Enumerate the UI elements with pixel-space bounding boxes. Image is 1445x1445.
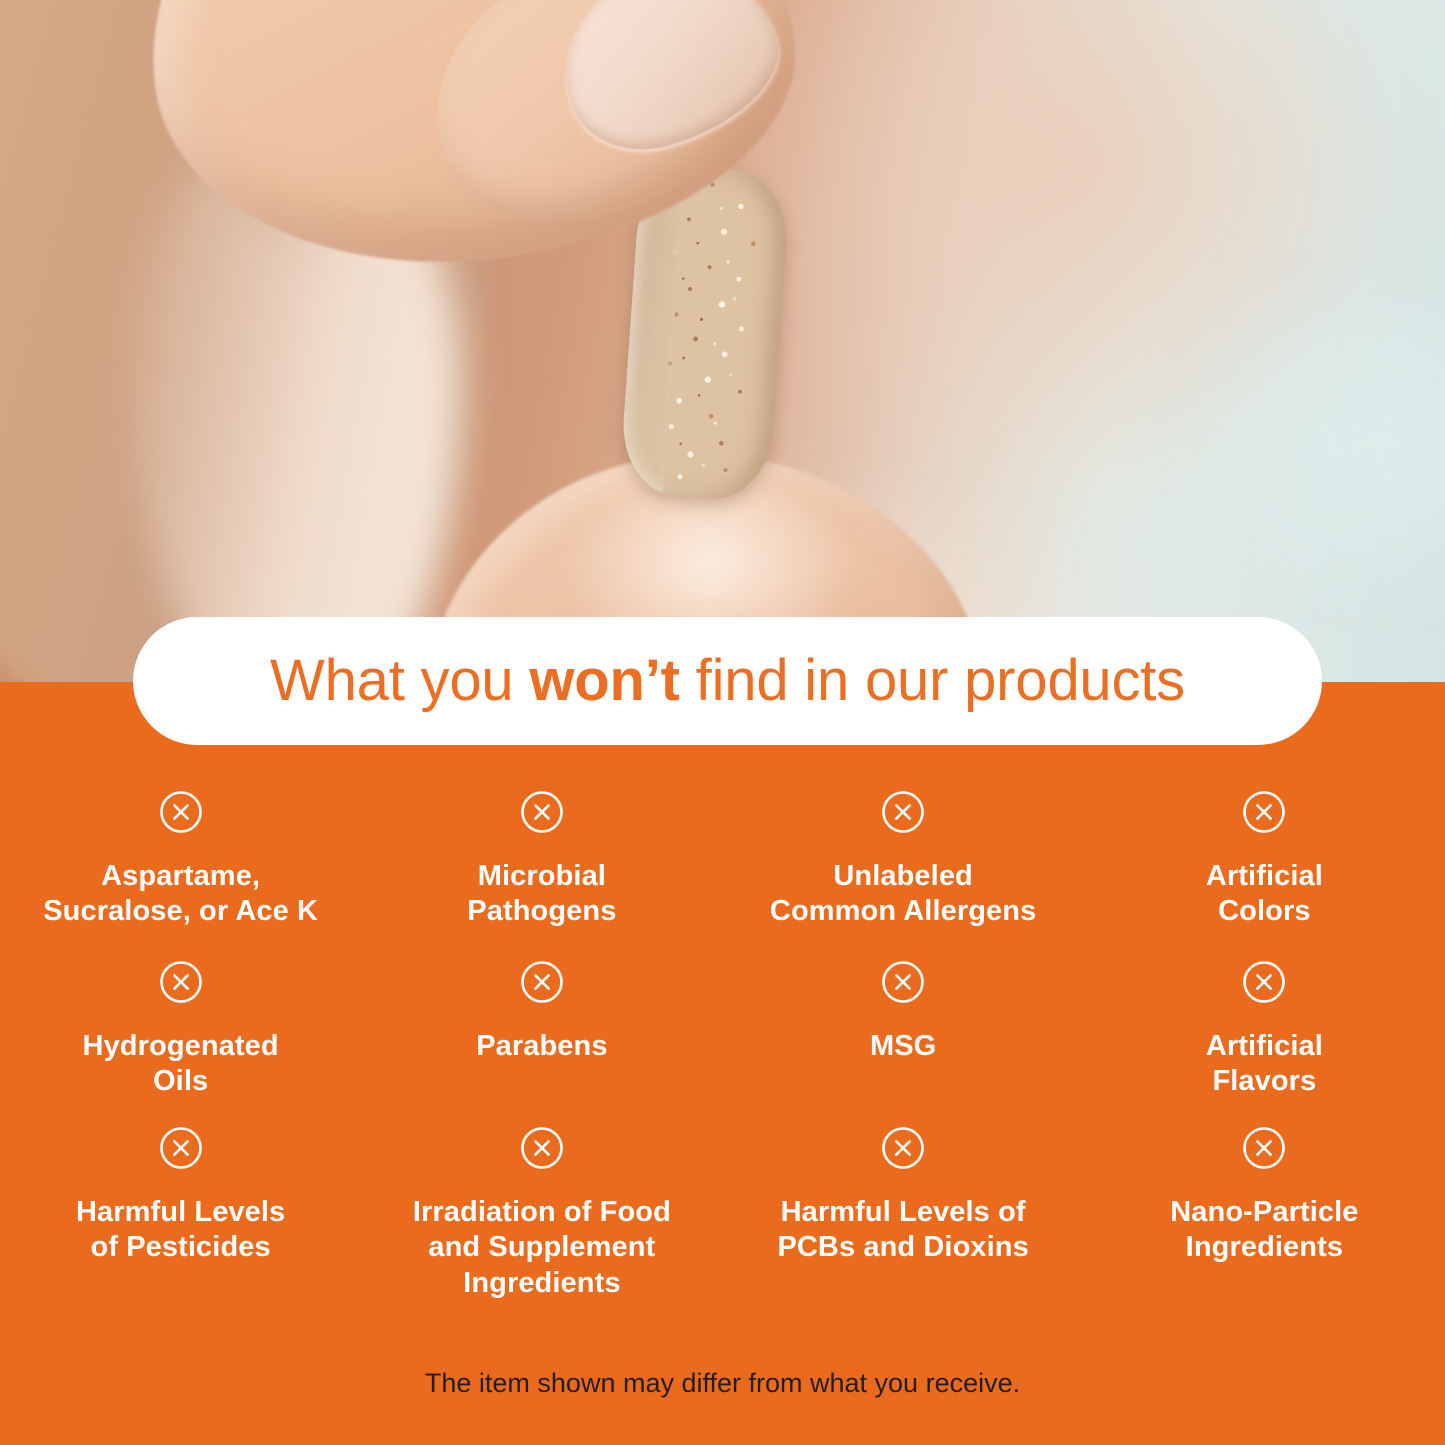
claim-item: Parabens bbox=[361, 960, 722, 1126]
claim-item: Microbial Pathogens bbox=[361, 790, 722, 960]
circle-x-icon bbox=[520, 790, 564, 834]
claims-panel: Aspartame, Sucralose, or Ace K Microbial… bbox=[0, 682, 1445, 1445]
headline-emphasis: won’t bbox=[529, 648, 679, 713]
circle-x-icon bbox=[1242, 790, 1286, 834]
circle-x-icon bbox=[881, 1126, 925, 1170]
headline-after: find in our products bbox=[680, 648, 1185, 713]
claims-row: Aspartame, Sucralose, or Ace K Microbial… bbox=[0, 790, 1445, 960]
claim-item: Harmful Levels of PCBs and Dioxins bbox=[723, 1126, 1084, 1316]
claim-item: Irradiation of Food and Supplement Ingre… bbox=[361, 1126, 722, 1316]
claim-label: Microbial Pathogens bbox=[467, 859, 616, 930]
claims-row: Hydrogenated Oils Parabens bbox=[0, 960, 1445, 1126]
claim-label: Unlabeled Common Allergens bbox=[770, 859, 1036, 930]
circle-x-icon bbox=[159, 1126, 203, 1170]
claim-label: Aspartame, Sucralose, or Ace K bbox=[43, 859, 318, 930]
circle-x-icon bbox=[881, 790, 925, 834]
circle-x-icon bbox=[1242, 960, 1286, 1004]
claim-item: Artificial Flavors bbox=[1084, 960, 1445, 1126]
disclaimer-text: The item shown may differ from what you … bbox=[0, 1368, 1445, 1399]
product-claims-graphic: What you won’t find in our products Aspa… bbox=[0, 0, 1445, 1445]
claim-label: Harmful Levels of Pesticides bbox=[76, 1195, 285, 1266]
claim-item: Aspartame, Sucralose, or Ace K bbox=[0, 790, 361, 960]
claim-item: Unlabeled Common Allergens bbox=[723, 790, 1084, 960]
circle-x-icon bbox=[881, 960, 925, 1004]
claims-grid: Aspartame, Sucralose, or Ace K Microbial… bbox=[0, 790, 1445, 1316]
headline-pill: What you won’t find in our products bbox=[133, 617, 1322, 745]
claim-item: MSG bbox=[723, 960, 1084, 1126]
claim-label: Nano-Particle Ingredients bbox=[1170, 1195, 1358, 1266]
claim-label: Irradiation of Food and Supplement Ingre… bbox=[413, 1195, 671, 1301]
circle-x-icon bbox=[159, 960, 203, 1004]
claim-label: Hydrogenated Oils bbox=[83, 1029, 279, 1100]
circle-x-icon bbox=[520, 960, 564, 1004]
claim-label: Harmful Levels of PCBs and Dioxins bbox=[777, 1195, 1028, 1266]
claim-label: Parabens bbox=[476, 1029, 607, 1064]
claim-label: Artificial Colors bbox=[1206, 859, 1323, 930]
page-title: What you won’t find in our products bbox=[270, 652, 1185, 710]
circle-x-icon bbox=[520, 1126, 564, 1170]
claim-item: Artificial Colors bbox=[1084, 790, 1445, 960]
headline-before: What you bbox=[270, 648, 529, 713]
claim-item: Nano-Particle Ingredients bbox=[1084, 1126, 1445, 1316]
claim-item: Hydrogenated Oils bbox=[0, 960, 361, 1126]
circle-x-icon bbox=[1242, 1126, 1286, 1170]
product-photo bbox=[0, 0, 1445, 690]
claim-label: MSG bbox=[870, 1029, 936, 1064]
circle-x-icon bbox=[159, 790, 203, 834]
claim-item: Harmful Levels of Pesticides bbox=[0, 1126, 361, 1316]
claims-row: Harmful Levels of Pesticides Irradiation… bbox=[0, 1126, 1445, 1316]
claim-label: Artificial Flavors bbox=[1206, 1029, 1323, 1100]
